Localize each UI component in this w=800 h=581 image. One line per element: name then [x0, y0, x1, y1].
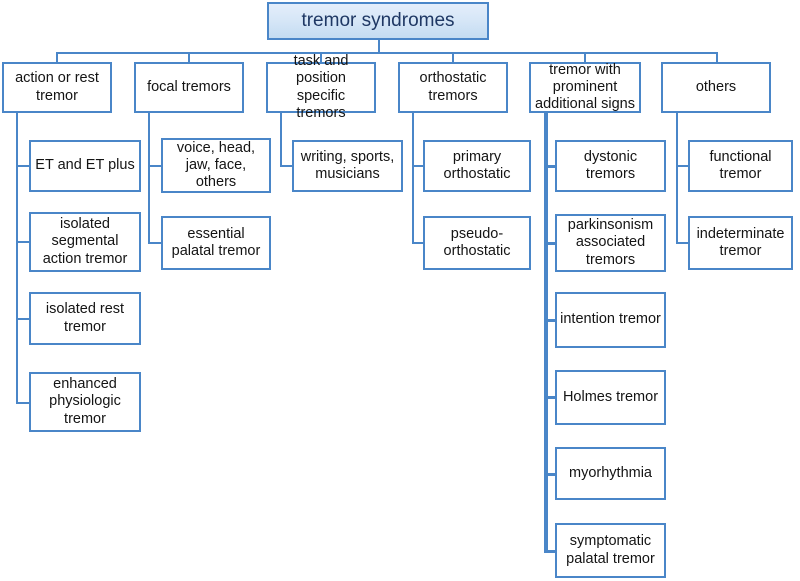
- node-symptomatic-palatal-tremor[interactable]: symptomatic palatal tremor: [555, 523, 666, 578]
- tremor-syndromes-diagram: tremor syndromes action or rest tremor f…: [0, 0, 800, 581]
- connector-spine-col1: [16, 113, 18, 403]
- node-enhanced-physiologic-tremor[interactable]: enhanced physiologic tremor: [29, 372, 141, 432]
- column-header-focal-tremors[interactable]: focal tremors: [134, 62, 244, 113]
- connector-spine-col4: [412, 113, 414, 243]
- column-header-task-and-position-specific-tremors[interactable]: task and position specific tremors: [266, 62, 376, 113]
- node-writing-sports-musicians[interactable]: writing, sports, musicians: [292, 140, 403, 192]
- connector-stub-col1-3: [16, 318, 30, 320]
- connector-spine-col5: [544, 113, 548, 551]
- node-primary-orthostatic[interactable]: primary orthostatic: [423, 140, 531, 192]
- node-intention-tremor[interactable]: intention tremor: [555, 292, 666, 348]
- node-isolated-segmental-action-tremor[interactable]: isolated segmental action tremor: [29, 212, 141, 272]
- connector-main-bar: [56, 52, 718, 54]
- column-header-action-or-rest-tremor[interactable]: action or rest tremor: [2, 62, 112, 113]
- column-header-others[interactable]: others: [661, 62, 771, 113]
- root-node-tremor-syndromes[interactable]: tremor syndromes: [267, 2, 489, 40]
- node-voice-head-jaw-face-others[interactable]: voice, head, jaw, face, others: [161, 138, 271, 193]
- connector-stub-col1-2: [16, 241, 30, 243]
- connector-spine-col2: [148, 113, 150, 243]
- node-et-and-et-plus[interactable]: ET and ET plus: [29, 140, 141, 192]
- column-header-orthostatic-tremors[interactable]: orthostatic tremors: [398, 62, 508, 113]
- connector-stub-col1-1: [16, 165, 30, 167]
- node-essential-palatal-tremor[interactable]: essential palatal tremor: [161, 216, 271, 270]
- node-isolated-rest-tremor[interactable]: isolated rest tremor: [29, 292, 141, 345]
- node-indeterminate-tremor[interactable]: indeterminate tremor: [688, 216, 793, 270]
- connector-stub-col1-4: [16, 402, 30, 404]
- node-holmes-tremor[interactable]: Holmes tremor: [555, 370, 666, 425]
- node-parkinsonism-associated-tremors[interactable]: parkinsonism associated tremors: [555, 214, 666, 272]
- node-dystonic-tremors[interactable]: dystonic tremors: [555, 140, 666, 192]
- node-functional-tremor[interactable]: functional tremor: [688, 140, 793, 192]
- connector-spine-col6: [676, 113, 678, 243]
- node-pseudo-orthostatic[interactable]: pseudo-orthostatic: [423, 216, 531, 270]
- node-myorhythmia[interactable]: myorhythmia: [555, 447, 666, 500]
- connector-stub-col2-2: [148, 242, 162, 244]
- connector-stub-col2-1: [148, 165, 162, 167]
- column-header-tremor-with-prominent-additional-signs[interactable]: tremor with prominent additional signs: [529, 62, 641, 113]
